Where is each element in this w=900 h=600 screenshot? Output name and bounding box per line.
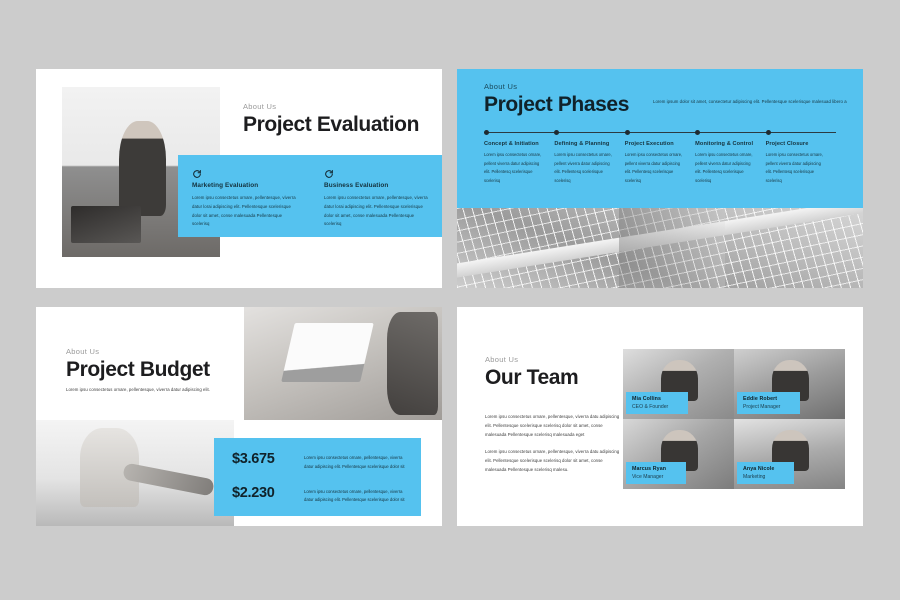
team-member-card[interactable]: Anya Nicole Marketing xyxy=(734,419,845,489)
slide4-paragraph: Lorem ipsu consectetus ornare, pellentes… xyxy=(485,413,625,439)
timeline-label: Project Closure xyxy=(766,141,826,147)
team-member-card[interactable]: Marcus Ryan Vice Manager xyxy=(623,419,734,489)
slide-deck-preview: About Us Project Evaluation Marketing Ev… xyxy=(0,0,900,600)
budget-description: Lorem ipsu consectetus ornare, pellentes… xyxy=(304,485,411,506)
timeline-items: Concept & Initiation Lorem ipsu consecte… xyxy=(484,133,836,185)
timeline-dot-icon xyxy=(554,130,559,135)
slide1-heading-group: About Us Project Evaluation xyxy=(243,102,419,137)
timeline-label: Defining & Planning xyxy=(554,141,614,147)
timeline-body: Lorem ipsu consectetus ornare, pellent v… xyxy=(695,151,755,185)
slide2-title: Project Phases xyxy=(484,93,629,117)
timeline-label: Project Execution xyxy=(625,141,685,147)
phases-timeline: Concept & Initiation Lorem ipsu consecte… xyxy=(484,132,836,185)
refresh-icon xyxy=(192,166,202,176)
team-member-role: Marketing xyxy=(743,474,774,480)
slide3-eyebrow: About Us xyxy=(66,347,210,356)
timeline-body: Lorem ipsu consectetus ornare, pellent v… xyxy=(554,151,614,185)
timeline-dot-icon xyxy=(695,130,700,135)
team-member-tag: Anya Nicole Marketing xyxy=(737,462,794,484)
team-member-tag: Mia Collins CEO & Founder xyxy=(626,392,688,414)
timeline-dot-icon xyxy=(766,130,771,135)
budget-amount: $2.230 xyxy=(232,485,304,501)
team-member-tag: Marcus Ryan Vice Manager xyxy=(626,462,686,484)
budget-description: Lorem ipsu consectetus ornare, pellentes… xyxy=(304,451,411,472)
slide2-subtitle: Lorem ipsum dolor sit amet, consectetur … xyxy=(653,98,851,107)
refresh-icon xyxy=(324,166,334,176)
card-business-evaluation[interactable]: Business Evaluation Lorem ipsu consectet… xyxy=(310,155,442,237)
slide3-title: Project Budget xyxy=(66,358,210,382)
slide1-title: Project Evaluation xyxy=(243,113,419,137)
slide4-heading-group: About Us Our Team xyxy=(485,355,578,390)
team-member-card[interactable]: Mia Collins CEO & Founder xyxy=(623,349,734,419)
slide-project-evaluation[interactable]: About Us Project Evaluation Marketing Ev… xyxy=(36,69,442,288)
card-body-text: Lorem ipsu consectetus ornare, pellentes… xyxy=(192,194,298,229)
slide2-heading-group: About Us Project Phases xyxy=(484,82,629,117)
team-member-tag: Eddie Robert Project Manager xyxy=(737,392,800,414)
evaluation-cards-panel: Marketing Evaluation Lorem ipsu consecte… xyxy=(178,155,442,237)
team-member-card[interactable]: Eddie Robert Project Manager xyxy=(734,349,845,419)
timeline-body: Lorem ipsu consectetus ornare, pellent v… xyxy=(484,151,544,185)
timeline-item[interactable]: Defining & Planning Lorem ipsu consectet… xyxy=(554,133,624,185)
timeline-label: Concept & Initiation xyxy=(484,141,544,147)
laptop-desk-photo xyxy=(244,307,442,420)
card-heading: Business Evaluation xyxy=(324,182,430,189)
slide-project-budget[interactable]: About Us Project Budget Lorem ipsu conse… xyxy=(36,307,442,526)
slide1-eyebrow: About Us xyxy=(243,102,419,111)
timeline-body: Lorem ipsu consectetus ornare, pellent v… xyxy=(766,151,826,185)
team-member-name: Eddie Robert xyxy=(743,396,780,402)
budget-row: $2.230 Lorem ipsu consectetus ornare, pe… xyxy=(214,485,421,506)
slide-our-team[interactable]: About Us Our Team Lorem ipsu consectetus… xyxy=(457,307,863,526)
timeline-body: Lorem ipsu consectetus ornare, pellent v… xyxy=(625,151,685,185)
budget-panel: $3.675 Lorem ipsu consectetus ornare, pe… xyxy=(214,438,421,516)
team-member-name: Anya Nicole xyxy=(743,466,774,472)
slide3-heading-group: About Us Project Budget xyxy=(66,347,210,382)
budget-amount: $3.675 xyxy=(232,451,304,467)
timeline-item[interactable]: Project Execution Lorem ipsu consectetus… xyxy=(625,133,695,185)
timeline-item[interactable]: Project Closure Lorem ipsu consectetus o… xyxy=(766,133,836,185)
team-photo-grid: Mia Collins CEO & Founder Eddie Robert P… xyxy=(623,349,845,489)
budget-row: $3.675 Lorem ipsu consectetus ornare, pe… xyxy=(214,451,421,472)
card-body-text: Lorem ipsu consectetus ornare, pellentes… xyxy=(324,194,430,229)
timeline-dot-icon xyxy=(484,130,489,135)
slide4-paragraph: Lorem ipsu consectetus ornare, pellentes… xyxy=(485,448,625,474)
slide2-eyebrow: About Us xyxy=(484,82,629,91)
architecture-stairs-photo xyxy=(457,208,863,288)
team-member-name: Mia Collins xyxy=(632,396,668,402)
card-marketing-evaluation[interactable]: Marketing Evaluation Lorem ipsu consecte… xyxy=(178,155,310,237)
team-member-role: CEO & Founder xyxy=(632,404,668,410)
handshake-photo xyxy=(36,420,234,526)
timeline-item[interactable]: Concept & Initiation Lorem ipsu consecte… xyxy=(484,133,554,185)
team-member-role: Project Manager xyxy=(743,404,780,410)
slide4-title: Our Team xyxy=(485,366,578,390)
card-heading: Marketing Evaluation xyxy=(192,182,298,189)
timeline-item[interactable]: Monitoring & Control Lorem ipsu consecte… xyxy=(695,133,765,185)
slide-project-phases[interactable]: About Us Project Phases Lorem ipsum dolo… xyxy=(457,69,863,288)
slide4-eyebrow: About Us xyxy=(485,355,578,364)
team-member-role: Vice Manager xyxy=(632,474,666,480)
timeline-label: Monitoring & Control xyxy=(695,141,755,147)
slide4-body-text: Lorem ipsu consectetus ornare, pellentes… xyxy=(485,413,625,475)
team-member-name: Marcus Ryan xyxy=(632,466,666,472)
slide3-subtitle: Lorem ipsu consectetus ornare, pellentes… xyxy=(66,386,236,395)
timeline-dot-icon xyxy=(625,130,630,135)
